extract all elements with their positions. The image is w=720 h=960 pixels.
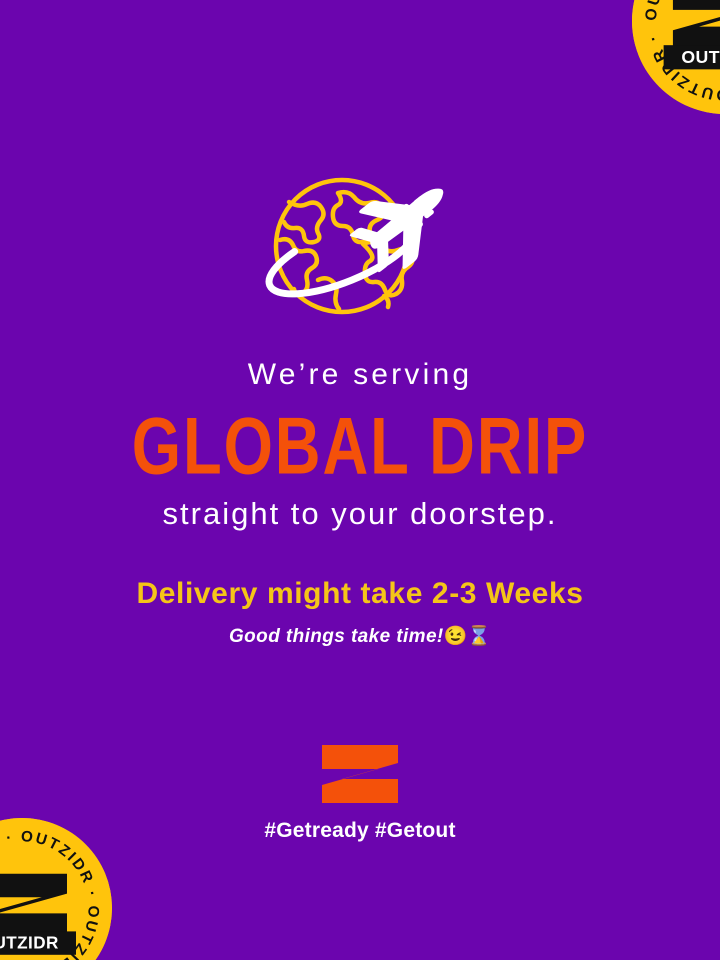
badge-brand-bar: OUTZIDR bbox=[0, 931, 76, 954]
tagline-emoji: 😉⌛ bbox=[444, 626, 491, 647]
globe-with-airplane-icon bbox=[232, 168, 488, 348]
tagline-label: Good things take time! bbox=[229, 626, 444, 647]
outzidr-sticker-badge-bottom-left: OUTZIDR · OUTZIDR · OUTZIDR · OUTZIDR · … bbox=[0, 818, 112, 960]
delivery-estimate-text: Delivery might take 2-3 Weeks bbox=[0, 577, 720, 612]
eyebrow-text: We’re serving bbox=[0, 358, 720, 391]
page-title: GLOBAL DRIP bbox=[14, 405, 705, 486]
tagline-text: Good things take time!😉⌛ bbox=[0, 626, 720, 649]
svg-text:OUTZIDR: OUTZIDR bbox=[0, 934, 59, 953]
z-monogram-logo-icon bbox=[320, 745, 400, 803]
promo-poster: We’re serving GLOBAL DRIP straight to yo… bbox=[0, 0, 720, 960]
poster-text-block: We’re serving GLOBAL DRIP straight to yo… bbox=[0, 358, 720, 648]
subline-text: straight to your doorstep. bbox=[0, 497, 720, 531]
outzidr-sticker-badge-top-right: OUTZIDR · OUTZIDR · OUTZIDR · OUTZIDR · … bbox=[632, 0, 720, 114]
badge-brand-bar: OUTZIDR bbox=[664, 45, 720, 69]
svg-text:OUTZIDR: OUTZIDR bbox=[681, 47, 720, 67]
